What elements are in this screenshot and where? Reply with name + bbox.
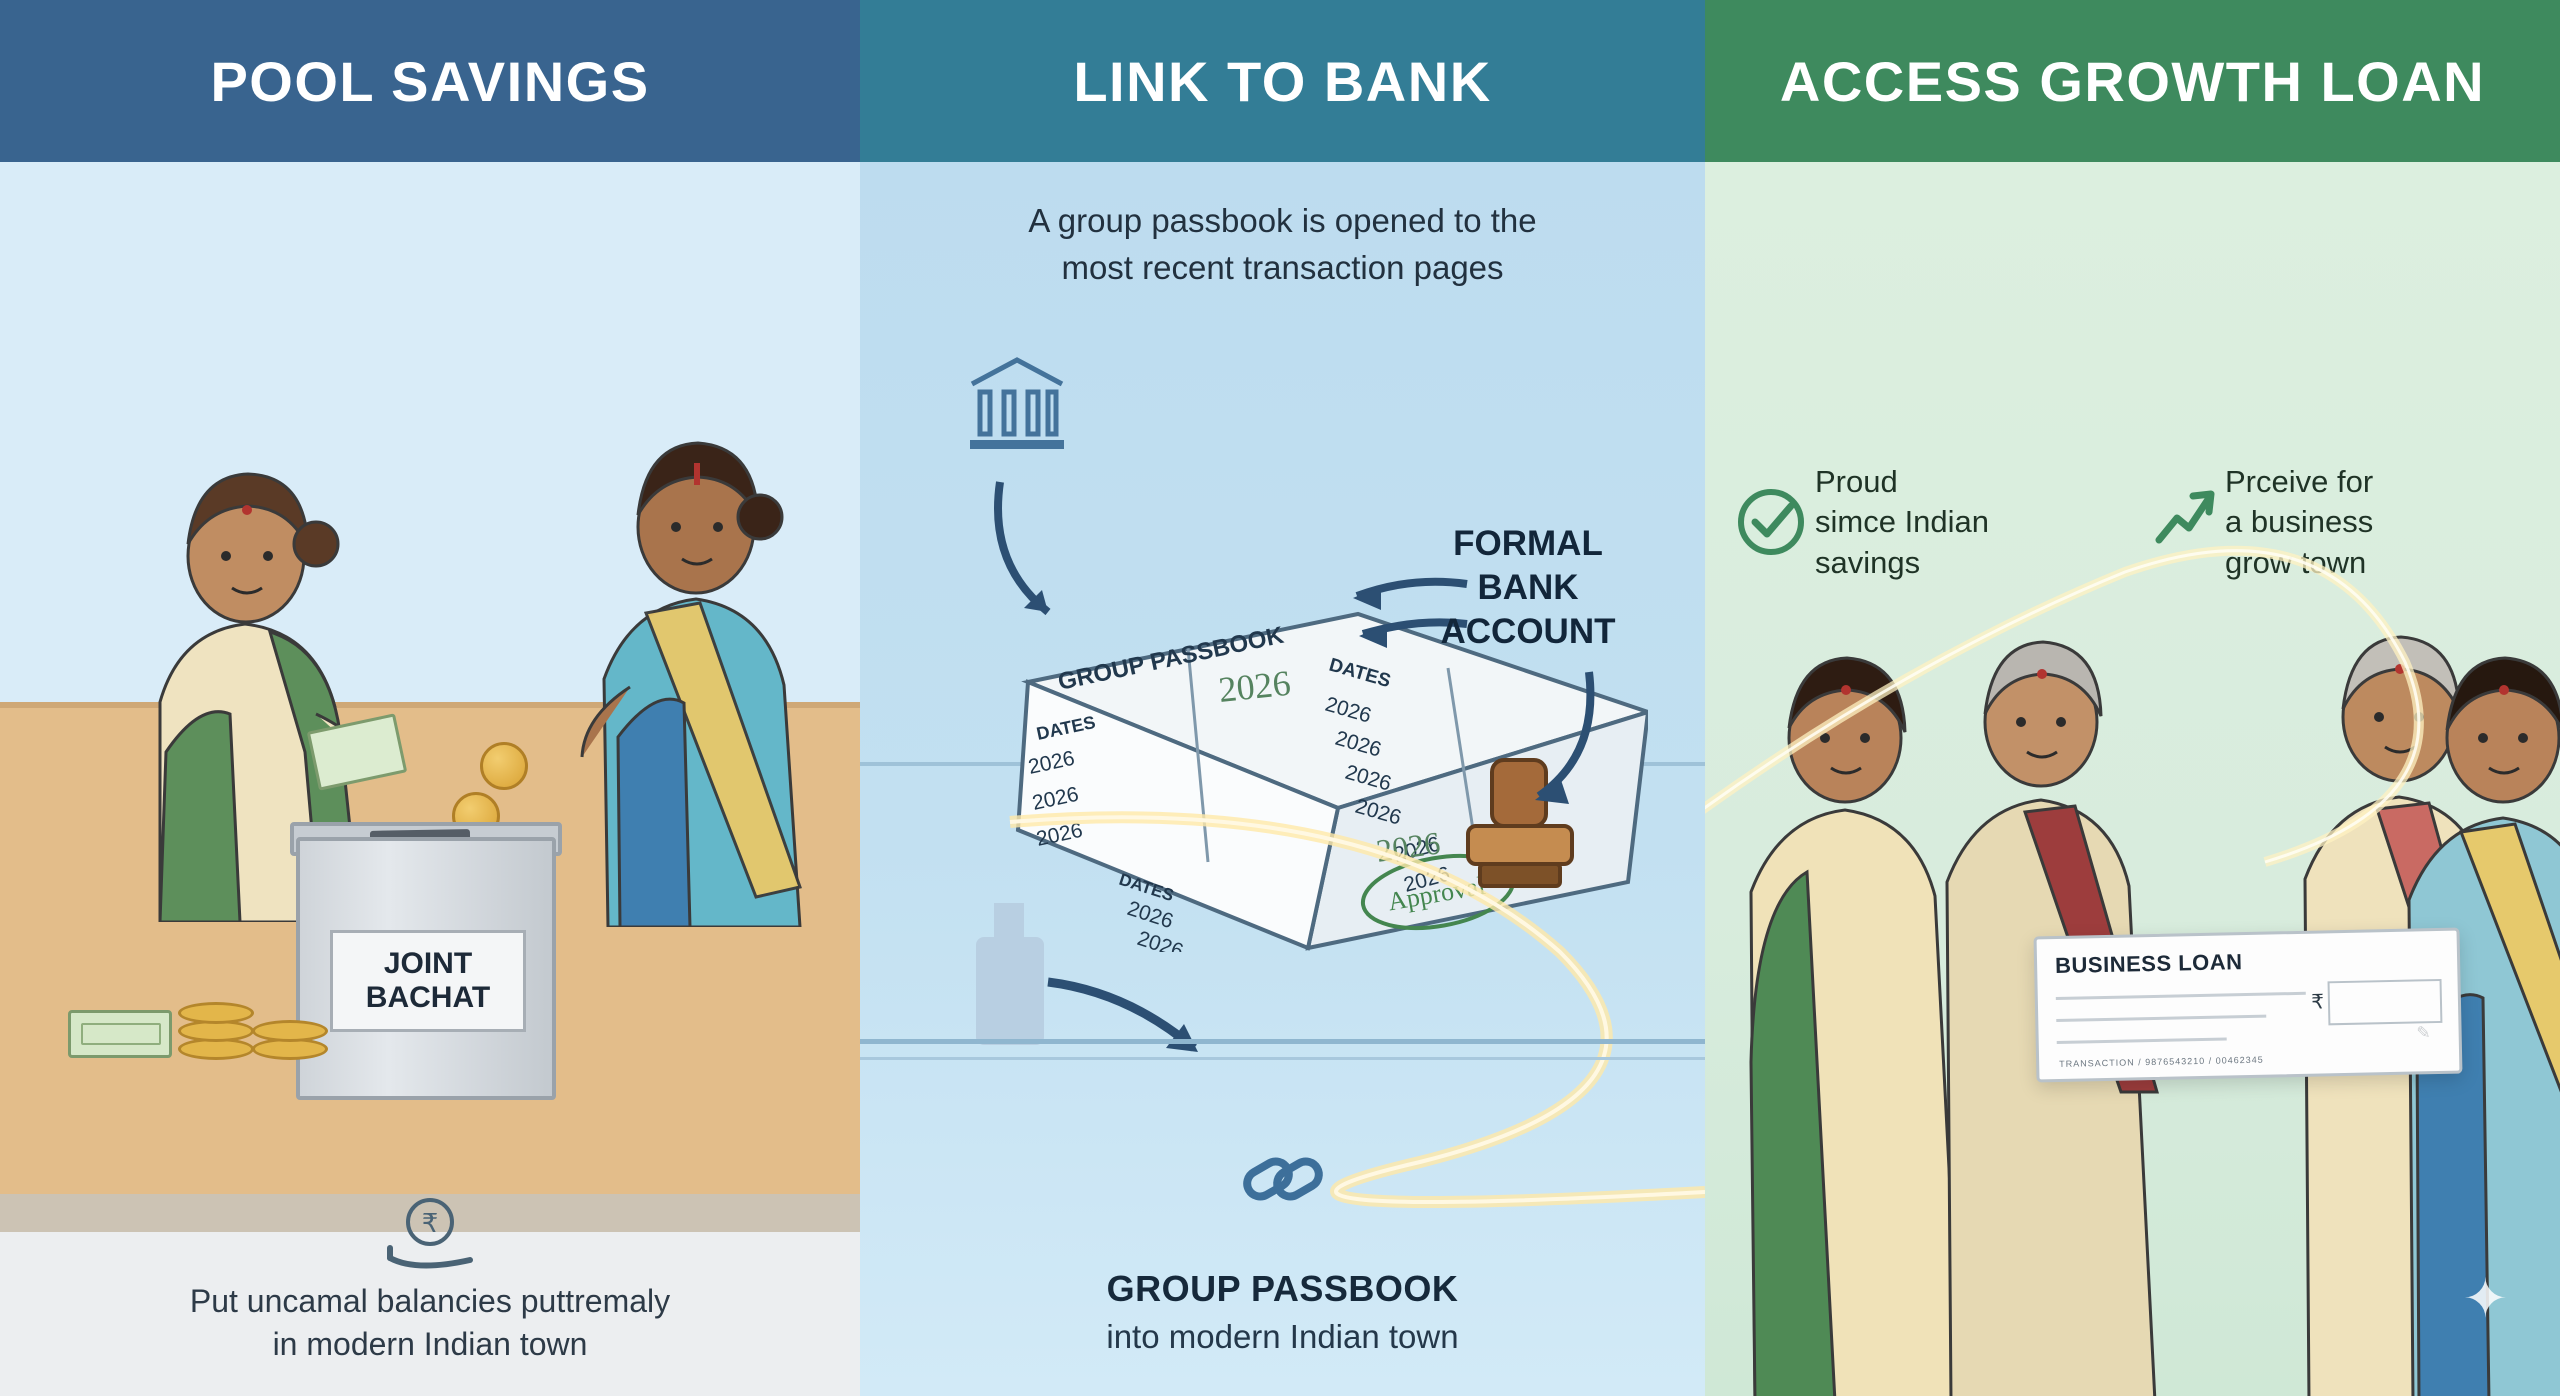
panel-access-growth-loan: ACCESS GROWTH LOAN Proud simce Indian sa… [1705, 0, 2560, 1396]
panel2-top-note-line2: most recent transaction pages [860, 245, 1705, 292]
box-label-line1: JOINT [384, 947, 472, 982]
panel2-top-note-line1: A group passbook is opened to the [860, 198, 1705, 245]
panel1-body: JOINT BACHAT ₹ Put uncamal balancies put… [0, 162, 860, 1396]
panel2-caption-line2: into modern Indian town [860, 1318, 1705, 1356]
panel3-header-title: ACCESS GROWTH LOAN [1780, 49, 2485, 114]
panel2-caption-line1: GROUP PASSBOOK [860, 1268, 1705, 1310]
coin-stack-3 [178, 1002, 254, 1024]
rupee-in-hand-icon: ₹ [382, 1194, 478, 1274]
panel-link-to-bank: LINK TO BANK A group passbook is opened … [860, 0, 1705, 1396]
panel2-foot-line-2 [860, 1057, 1705, 1060]
falling-coin-1 [480, 742, 528, 790]
formal-bank-account-label: FORMAL BANK ACCOUNT [1413, 522, 1643, 653]
light-swirl-graphic [1705, 462, 2560, 1162]
panel-pool-savings: POOL SAVINGS [0, 0, 860, 1396]
box-label-line2: BACHAT [366, 981, 490, 1016]
cash-stack [68, 1010, 172, 1058]
woman-with-coins-figure [560, 417, 850, 927]
panel1-header: POOL SAVINGS [0, 0, 860, 162]
svg-text:₹: ₹ [422, 1208, 439, 1238]
coin-stack-5 [252, 1020, 328, 1042]
panel2-top-note: A group passbook is opened to the most r… [860, 198, 1705, 292]
chain-link-icon [1238, 1144, 1328, 1214]
panel1-caption: Put uncamal balancies puttremaly in mode… [0, 1280, 860, 1366]
panel2-header-title: LINK TO BANK [1073, 49, 1491, 114]
bank-building-icon [962, 350, 1072, 460]
panel2-body: A group passbook is opened to the most r… [860, 162, 1705, 1396]
panel2-header: LINK TO BANK [860, 0, 1705, 162]
infographic-board: POOL SAVINGS [0, 0, 2560, 1396]
formal-label-line3: ACCOUNT [1413, 610, 1643, 654]
formal-label-line2: BANK [1413, 566, 1643, 610]
panel2-foot-line-1 [860, 1039, 1705, 1044]
formal-label-line1: FORMAL [1413, 522, 1643, 566]
panel3-body: Proud simce Indian savings Prceive for a… [1705, 162, 2560, 1396]
sparkle-icon: ✦ [2463, 1267, 2508, 1330]
panel1-caption-line2: in modern Indian town [0, 1323, 860, 1366]
panel2-caption: GROUP PASSBOOK into modern Indian town [860, 1268, 1705, 1356]
box-label: JOINT BACHAT [330, 930, 526, 1032]
panel1-caption-line1: Put uncamal balancies puttremaly [0, 1280, 860, 1323]
svg-text:2026: 2026 [1217, 663, 1293, 710]
panel1-header-title: POOL SAVINGS [210, 49, 649, 114]
panel3-header: ACCESS GROWTH LOAN [1705, 0, 2560, 162]
